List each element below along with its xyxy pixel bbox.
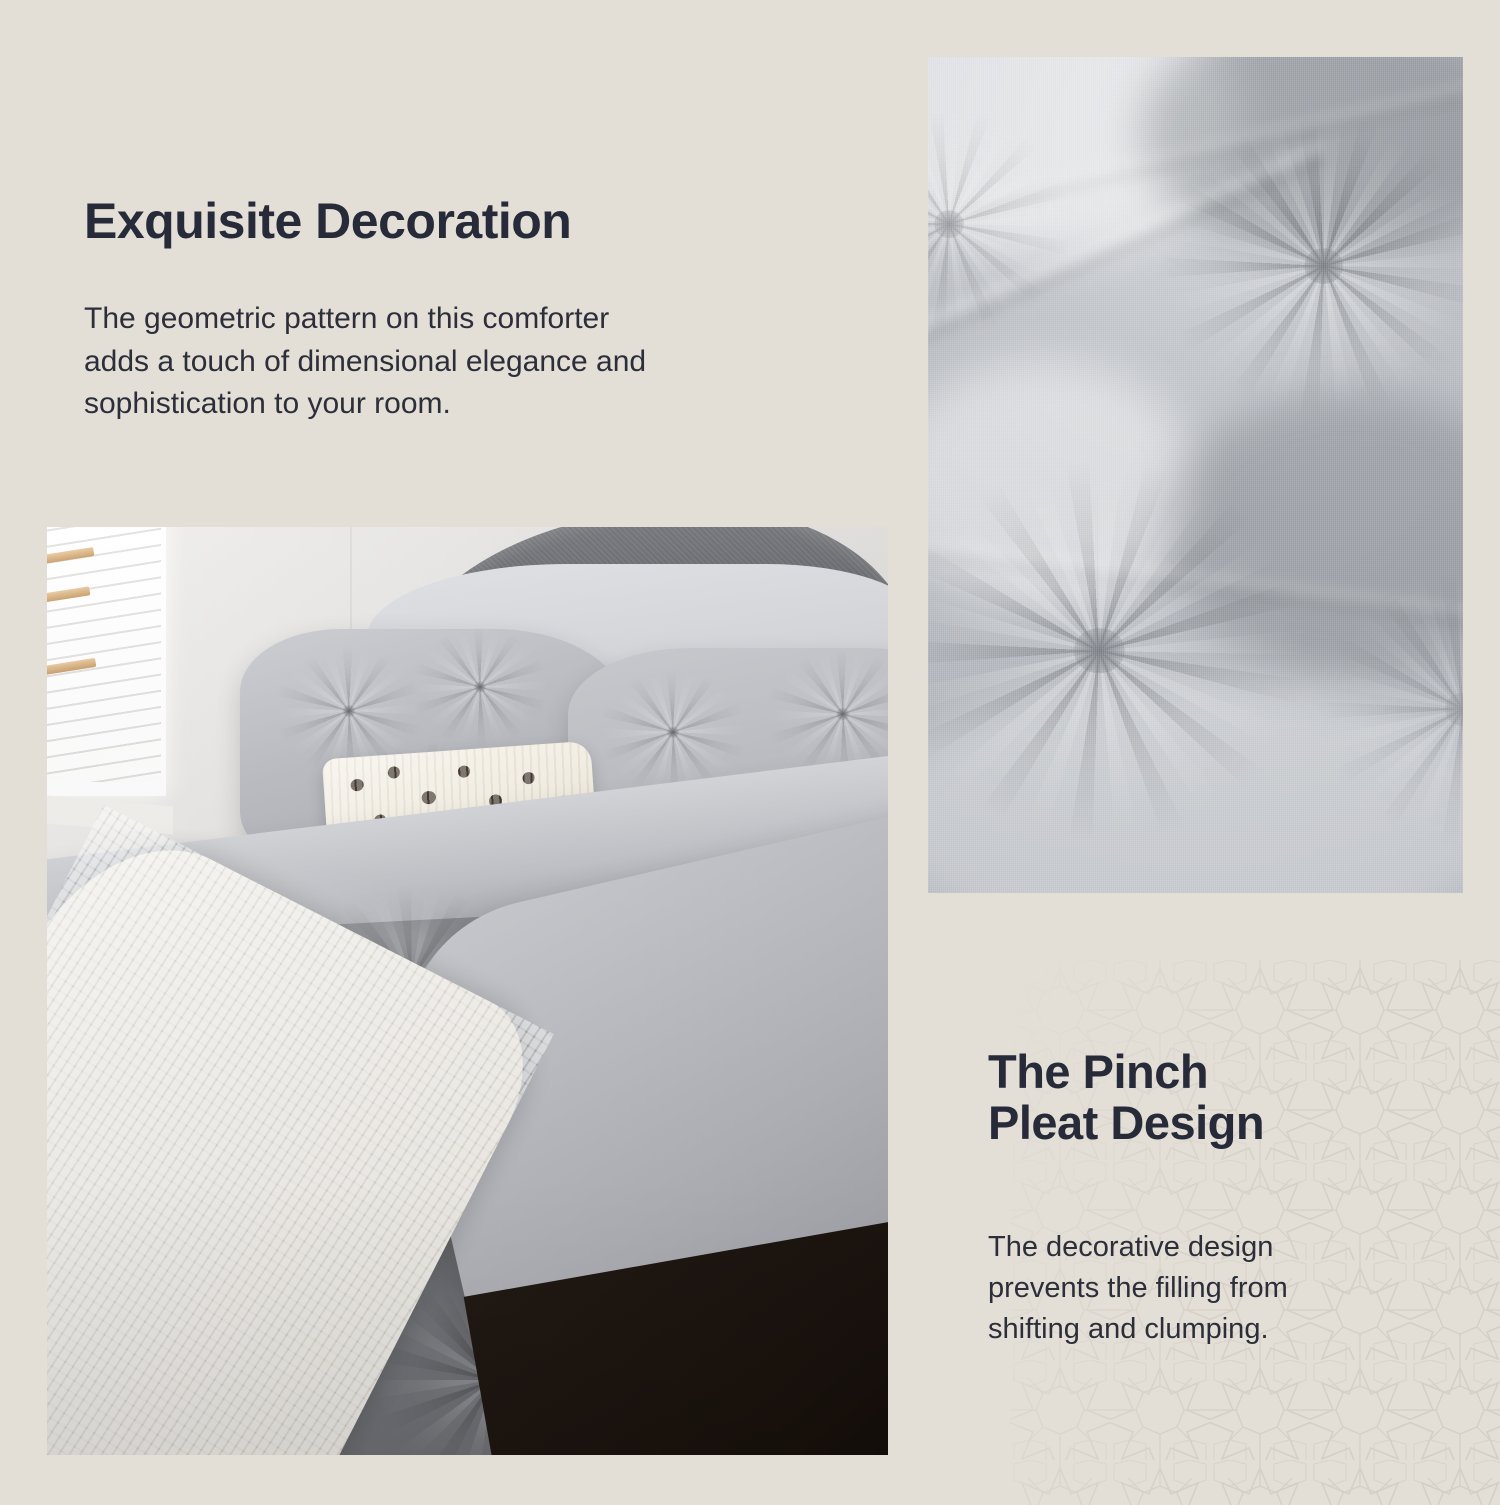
- pinch-pleat-design-body: The decorative design prevents the filli…: [988, 1227, 1428, 1351]
- pinch-pleat-design-heading: The Pinch Pleat Design: [988, 1047, 1264, 1149]
- exquisite-decoration-body: The geometric pattern on this comforter …: [84, 298, 844, 426]
- exquisite-decoration-heading: Exquisite Decoration: [84, 194, 571, 248]
- room-photo-grade: [47, 527, 888, 1455]
- styled-bedroom-photo: [47, 527, 888, 1455]
- pinch-pleat-detail-photo: [928, 57, 1463, 893]
- fabric-weave-texture: [928, 57, 1463, 893]
- marketing-image-canvas: Exquisite Decoration The geometric patte…: [0, 0, 1500, 1500]
